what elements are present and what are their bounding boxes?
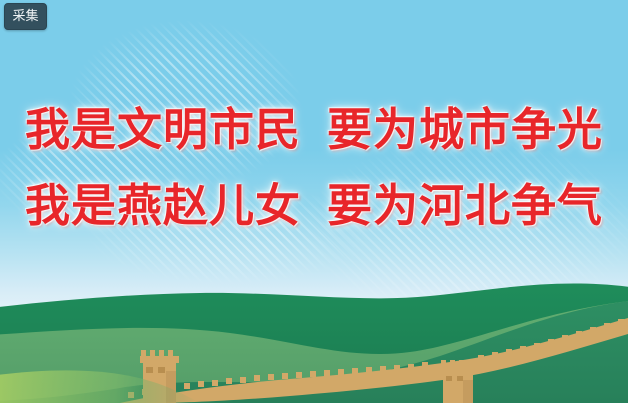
banner-image: 我是文明市民要为城市争光 我是燕赵儿女要为河北争气 采集: [0, 0, 628, 403]
slogan-line-2-right: 要为河北争气: [327, 179, 603, 232]
capture-button[interactable]: 采集: [4, 3, 47, 30]
slogan-line-1-left: 我是文明市民: [25, 103, 301, 156]
slogan-line-1-right: 要为城市争光: [327, 103, 603, 156]
slogan-text-block: 我是文明市民要为城市争光 我是燕赵儿女要为河北争气: [0, 92, 628, 244]
watchtower-right: [440, 360, 476, 403]
slogan-line-2: 我是燕赵儿女要为河北争气: [0, 168, 628, 244]
slogan-line-1: 我是文明市民要为城市争光: [0, 92, 628, 168]
slogan-line-2-left: 我是燕赵儿女: [25, 179, 301, 232]
